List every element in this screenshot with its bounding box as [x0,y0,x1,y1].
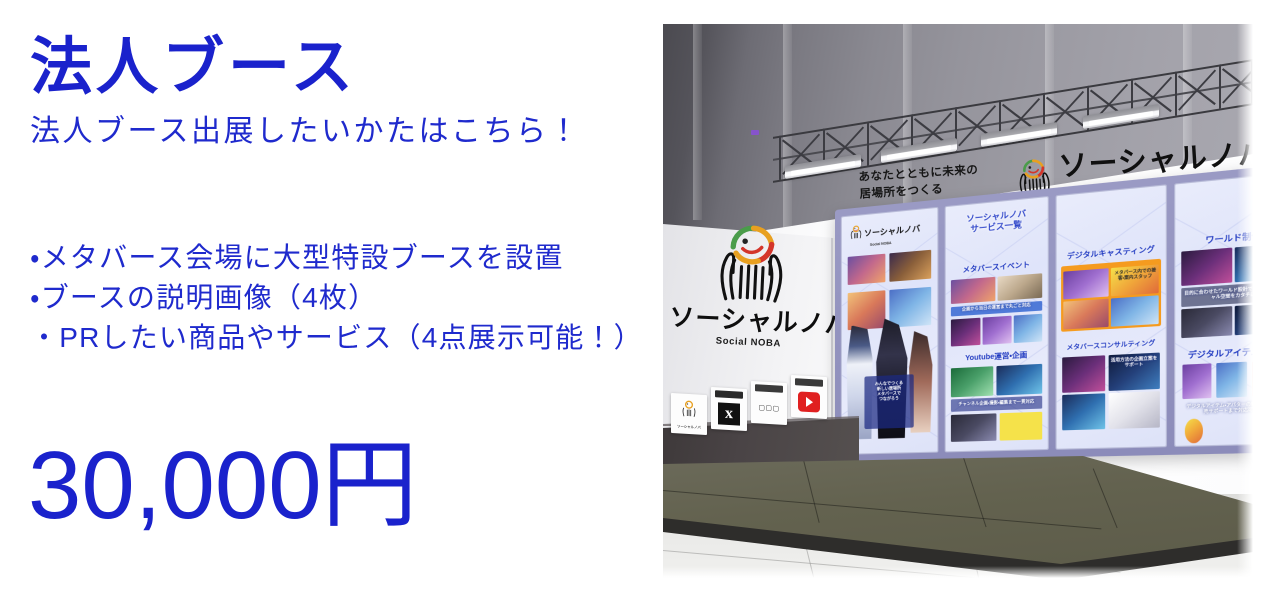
panel-photo [1111,295,1159,326]
display-panel-3: デジタルキャスティング メタバース内での接客・案内スタッフ メタバースコンサルテ… [1056,184,1167,450]
panel-photo [996,364,1043,396]
feature-list: ・メタバース会場に大型特設ブースを設置 ・ブースの説明画像（4枚） ・PRしたい… [30,238,670,357]
panel-photo [1181,248,1232,286]
list-item: ・メタバース会場に大型特設ブースを設置 [30,238,670,278]
signboard-youtube [791,375,827,419]
panel-photo [983,315,1012,344]
note-icon: ▢▢▢ [758,403,779,412]
panel-photo [951,317,981,346]
page-title: 法人ブース [30,35,357,100]
text-column: 法人ブース 法人ブース出展したいかたはこちら！ ・メタバース会場に大型特設ブース… [0,0,665,602]
display-panel-2: ソーシャルノバ サービス一覧 メタバースイベント 企画から当日の運営まで丸ごと対… [945,196,1049,453]
price-label: 30,000円 [28,438,418,534]
signboard-logo: ソーシャルノバ [671,393,707,435]
promo-page: 法人ブース 法人ブース出展したいかたはこちら！ ・メタバース会場に大型特設ブース… [0,0,1280,602]
hands-holding-smile-logo-icon [849,225,862,245]
list-item: ・ブースの説明画像（4枚） [30,278,670,318]
signboard-x: x [711,387,747,431]
panel-photo [1181,306,1232,338]
purple-accent-light [751,130,759,135]
signboard-note: ▢▢▢ [751,381,787,425]
list-item: ・PRしたい商品やサービス（4点展示可能！） [30,318,670,358]
panel-photo [998,273,1042,301]
hall-pillar [693,24,702,220]
page-subtitle: 法人ブース出展したいかたはこちら！ [30,114,581,150]
panel-photo [847,254,885,286]
render-edge-fade [1237,24,1253,578]
panel-caption: 活用方法の企画立案をサポート [1109,355,1159,368]
panel-photo [951,413,997,442]
signboard-label: ソーシャルノバ [677,423,701,429]
x-twitter-icon: x [718,402,740,425]
panel-photo [889,286,932,328]
hands-holding-smile-logo-icon [711,218,793,303]
display-panel-bank: ソーシャルノバ Social NOBA みんなでつくる 新しい居場所 メタバース… [835,163,1253,462]
panel-photo [951,366,993,397]
panel-photo [1063,299,1108,330]
booth-render-image: あなたとともに未来の 居場所をつくる [663,24,1253,578]
panel-photo [1184,419,1202,443]
render-edge-fade [663,566,1253,578]
panel-photo [1063,268,1108,299]
panel-caption: みんなでつくる 新しい居場所 メタバースで つながろう [865,380,913,402]
brand-name: ソーシャルノバ [669,305,830,337]
youtube-icon [798,391,820,412]
panel-photo [1182,363,1212,398]
panel-photo [1062,355,1105,393]
panel-photo [951,277,995,305]
social-noba-logo-icon [681,399,697,422]
booth-side-brand: ソーシャルノバ Social NOBA [668,216,834,351]
panel-photo [1013,313,1042,342]
panel-brand-name: ソーシャルノバ [864,225,920,238]
panel-photo [1000,411,1042,440]
panel-photo [889,250,932,282]
panel-photo [1062,394,1105,431]
panel-photo [847,290,885,331]
panel-photo [1108,392,1160,430]
